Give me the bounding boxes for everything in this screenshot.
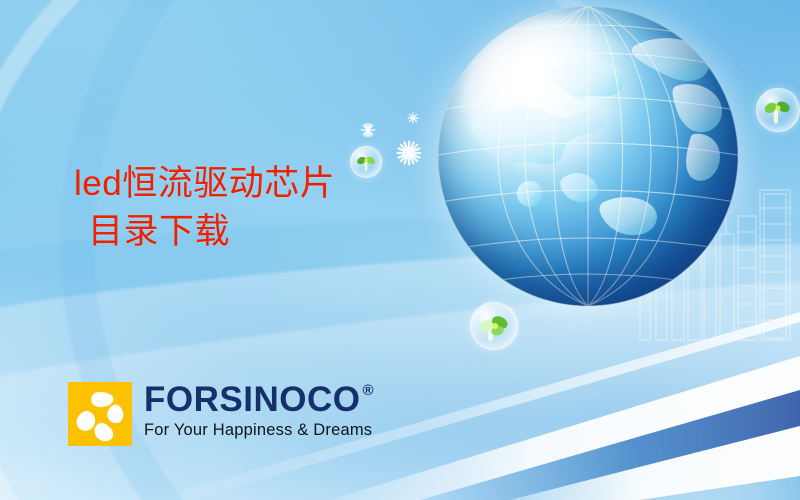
brand-name-row: FORSINOCO ®: [144, 382, 374, 417]
sparkle-star-icon: [360, 122, 376, 138]
headline-line-1: led恒流驱动芯片: [74, 160, 434, 208]
brand-wordmark: FORSINOCO ® For Your Happiness & Dreams: [144, 382, 374, 440]
brand-tagline: For Your Happiness & Dreams: [144, 421, 374, 440]
brand-logo: FORSINOCO ® For Your Happiness & Dreams: [68, 382, 374, 446]
bubble-sprout-large: [470, 302, 518, 350]
bubble-sprout-edge: [756, 88, 800, 132]
brand-name: FORSINOCO: [144, 382, 360, 417]
globe-graphic: [438, 6, 738, 306]
headline-line-2: 目录下载: [74, 208, 434, 256]
globe-sphere: [438, 6, 738, 306]
registered-trademark-icon: ®: [362, 383, 374, 398]
sprout-icon: [757, 89, 799, 131]
poster-canvas: led恒流驱动芯片 目录下载 FORSINOCO ® For Your Happ…: [0, 0, 800, 500]
globe-grid-and-continents: [438, 6, 738, 306]
sprout-icon: [471, 303, 517, 349]
page-title: led恒流驱动芯片 目录下载: [74, 160, 434, 257]
sparkle-star-icon: [407, 112, 419, 124]
forsinoco-pinwheel-mark-icon: [68, 382, 132, 446]
